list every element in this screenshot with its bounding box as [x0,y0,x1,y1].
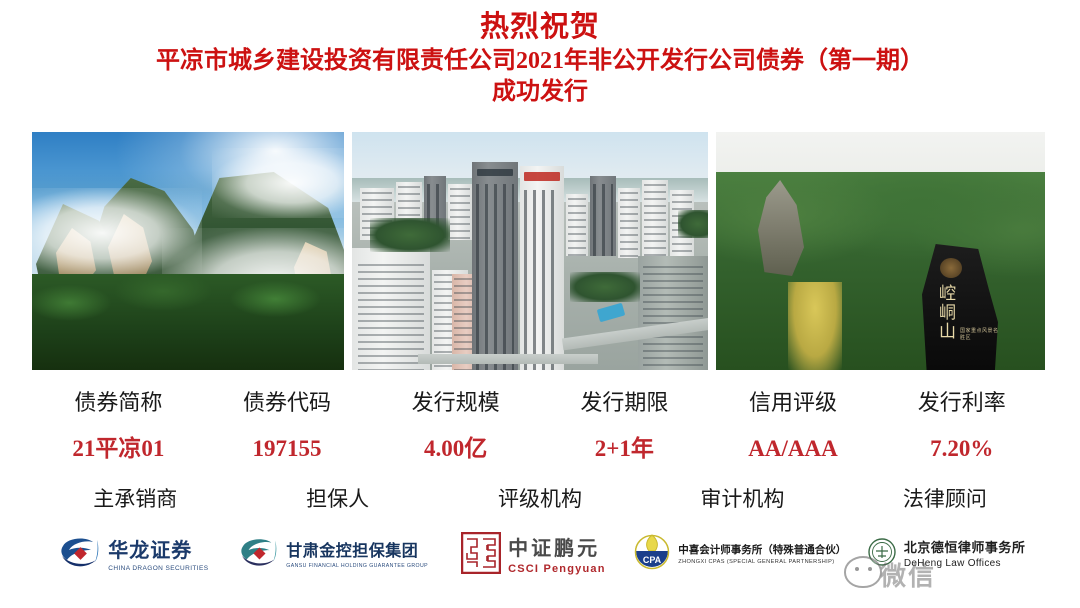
tower-sign-red [524,172,560,181]
column-value: 2+1年 [540,434,709,464]
kongtong-monument-photo: 崆峒山 国家重点风景名胜区 [716,132,1045,370]
table-column-bond-name: 债券简称 21平凉01 [34,388,203,464]
monument-seal-icon [940,258,962,278]
column-value: 21平凉01 [34,434,203,464]
bond-summary-table: 债券简称 21平凉01 债券代码 197155 发行规模 4.00亿 发行期限 … [34,388,1046,464]
logo-name-cn: 华龙证券 [108,534,208,563]
monument-inscription: 崆峒山 [932,284,956,341]
cpa-badge-icon: CPA [633,533,671,573]
institution-label: 法律顾问 [844,485,1046,513]
park-greenery [570,272,640,302]
subheadline-line-1: 平凉市城乡建设投资有限责任公司2021年非公开发行公司债券（第一期） [0,46,1080,77]
column-header: 信用评级 [709,388,878,418]
logo-text-block: 中证鹏元 CSCI Pengyuan [508,532,606,575]
headline: 热烈祝贺 [0,8,1080,46]
subheadline-line-2: 成功发行 [0,77,1080,108]
logo-text-block: 北京德恒律师事务所 DeHeng Law Offices [904,537,1026,569]
monument-subtext: 国家重点风景名胜区 [960,328,1002,342]
table-column-credit-rating: 信用评级 AA/AAA [709,388,878,464]
logo-name-cn: 中喜会计师事务所（特殊普通合伙） [678,542,846,557]
column-header: 发行利率 [877,388,1046,418]
logo-text-block: 甘肃金控担保集团 GANSU FINANCIAL HOLDING GUARANT… [286,537,428,569]
logo-name-cn: 甘肃金控担保集团 [286,537,428,561]
institution-label: 主承销商 [34,485,236,513]
institution-column-guarantor: 担保人 [236,485,438,513]
logo-text-block: 华龙证券 CHINA DRAGON SECURITIES [108,534,208,572]
column-header: 发行期限 [540,388,709,418]
yellow-foliage [788,282,842,370]
table-column-bond-code: 债券代码 197155 [203,388,372,464]
logo-name-cn: 北京德恒律师事务所 [904,537,1026,556]
csci-pengyuan-logo: 中证鹏元 CSCI Pengyuan [434,522,634,584]
photo-strip: 崆峒山 国家重点风景名胜区 [32,132,1045,370]
poster-header: 热烈祝贺 平凉市城乡建设投资有限责任公司2021年非公开发行公司债券（第一期） … [0,8,1080,108]
right-residential-block [638,256,708,370]
deheng-law-offices-logo: 北京德恒律师事务所 DeHeng Law Offices [846,522,1046,584]
city-road [418,354,598,364]
poster-root: 热烈祝贺 平凉市城乡建设投资有限责任公司2021年非公开发行公司债券（第一期） … [0,0,1080,608]
institution-column-rating-agency: 评级机构 [439,485,641,513]
park-greenery [678,210,708,238]
tower-sign-dark [477,169,513,176]
column-header: 债券简称 [34,388,203,418]
misty-mountain-photo [32,132,344,370]
background-building [566,194,588,256]
gansu-financial-holding-guarantee-logo: 甘肃金控担保集团 GANSU FINANCIAL HOLDING GUARANT… [234,522,434,584]
foreground-forest [32,274,344,370]
hualong-wave-icon [59,534,101,572]
mist-layer [212,148,344,218]
table-column-issue-size: 发行规模 4.00亿 [371,388,540,464]
logo-name-en: CSCI Pengyuan [508,563,606,575]
logo-name-en: DeHeng Law Offices [904,558,1026,569]
pengyuan-seal-icon [461,532,501,574]
foreground-building-left [352,248,430,370]
institution-logo-row: 华龙证券 CHINA DRAGON SECURITIES 甘肃金控担保集团 GA… [34,522,1046,584]
institution-label: 审计机构 [641,485,843,513]
column-value: AA/AAA [709,434,878,464]
background-building [642,180,668,260]
logo-name-en: CHINA DRAGON SECURITIES [108,565,208,572]
institution-column-legal-counsel: 法律顾问 [844,485,1046,513]
background-building [590,176,616,256]
logo-text-block: 中喜会计师事务所（特殊普通合伙） ZHONGXI CPAS (SPECIAL G… [678,542,846,565]
column-value: 7.20% [877,434,1046,464]
table-column-coupon-rate: 发行利率 7.20% [877,388,1046,464]
zhongxi-cpas-logo: CPA 中喜会计师事务所（特殊普通合伙） ZHONGXI CPAS (SPECI… [633,522,846,584]
gansu-wave-icon [239,535,279,571]
main-tower-light [520,166,564,370]
background-building [448,184,472,240]
logo-name-en: ZHONGXI CPAS (SPECIAL GENERAL PARTNERSHI… [678,559,846,565]
institution-label: 担保人 [236,485,438,513]
park-greenery [370,218,450,252]
institution-label: 评级机构 [439,485,641,513]
column-value: 4.00亿 [371,434,540,464]
institution-column-auditor: 审计机构 [641,485,843,513]
deheng-emblem-icon [867,537,897,569]
logo-name-en: GANSU FINANCIAL HOLDING GUARANTEE GROUP [286,563,428,569]
institution-column-lead-underwriter: 主承销商 [34,485,236,513]
main-tower-dark [472,162,518,370]
table-column-issue-term: 发行期限 2+1年 [540,388,709,464]
background-building [618,188,640,258]
column-value: 197155 [203,434,372,464]
city-skyline-photo [352,132,708,370]
column-header: 发行规模 [371,388,540,418]
logo-name-cn: 中证鹏元 [508,532,606,561]
column-header: 债券代码 [203,388,372,418]
svg-text:CPA: CPA [643,555,662,565]
institution-label-row: 主承销商 担保人 评级机构 审计机构 法律顾问 [34,485,1046,513]
hualong-securities-logo: 华龙证券 CHINA DRAGON SECURITIES [34,522,234,584]
